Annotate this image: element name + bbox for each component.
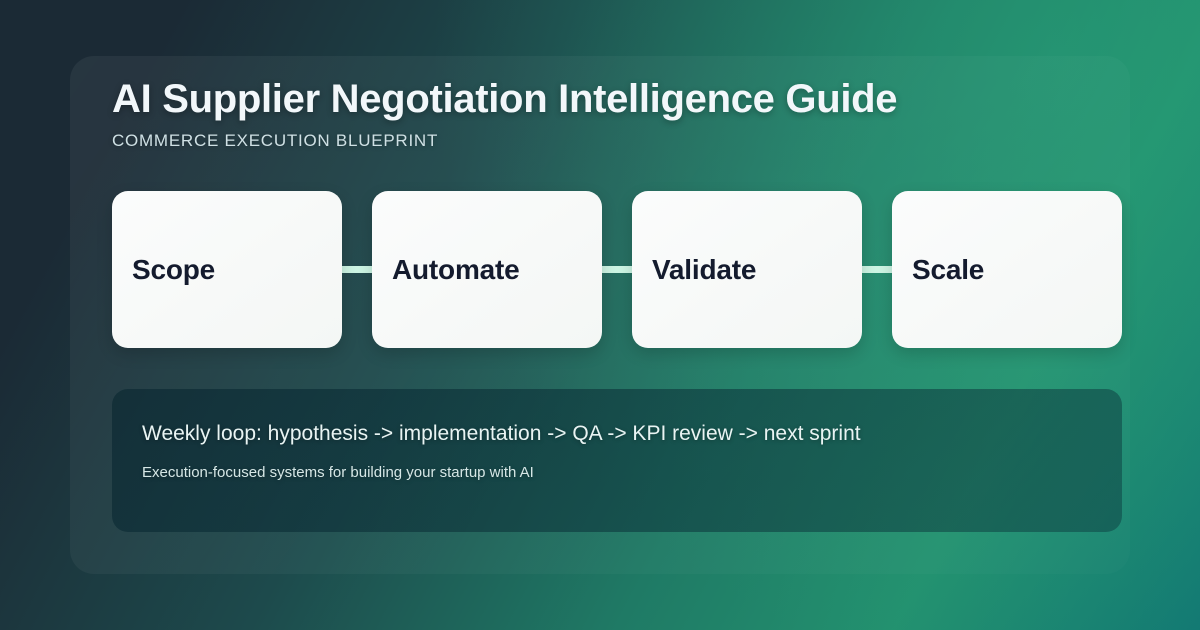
note-panel: Weekly loop: hypothesis -> implementatio…	[112, 389, 1122, 532]
page-subtitle: COMMERCE EXECUTION BLUEPRINT	[112, 131, 1092, 151]
note-secondary-text: Execution-focused systems for building y…	[142, 463, 1092, 483]
flow-connector-3	[862, 266, 892, 273]
step-label: Validate	[652, 256, 756, 284]
note-primary-text: Weekly loop: hypothesis -> implementatio…	[142, 421, 1092, 447]
content-panel: AI Supplier Negotiation Intelligence Gui…	[70, 56, 1130, 574]
step-label: Scope	[132, 256, 215, 284]
poster-canvas: AI Supplier Negotiation Intelligence Gui…	[0, 0, 1200, 630]
page-title: AI Supplier Negotiation Intelligence Gui…	[112, 76, 1092, 123]
flow-connector-2	[602, 266, 632, 273]
step-label: Scale	[912, 256, 984, 284]
flow-connector-1	[342, 266, 372, 273]
header: AI Supplier Negotiation Intelligence Gui…	[112, 76, 1092, 151]
step-card-validate[interactable]: Validate	[632, 191, 862, 348]
step-card-automate[interactable]: Automate	[372, 191, 602, 348]
step-card-scope[interactable]: Scope	[112, 191, 342, 348]
step-label: Automate	[392, 256, 520, 284]
step-card-scale[interactable]: Scale	[892, 191, 1122, 348]
process-flow: Scope Automate Validate Scale	[112, 191, 1122, 348]
